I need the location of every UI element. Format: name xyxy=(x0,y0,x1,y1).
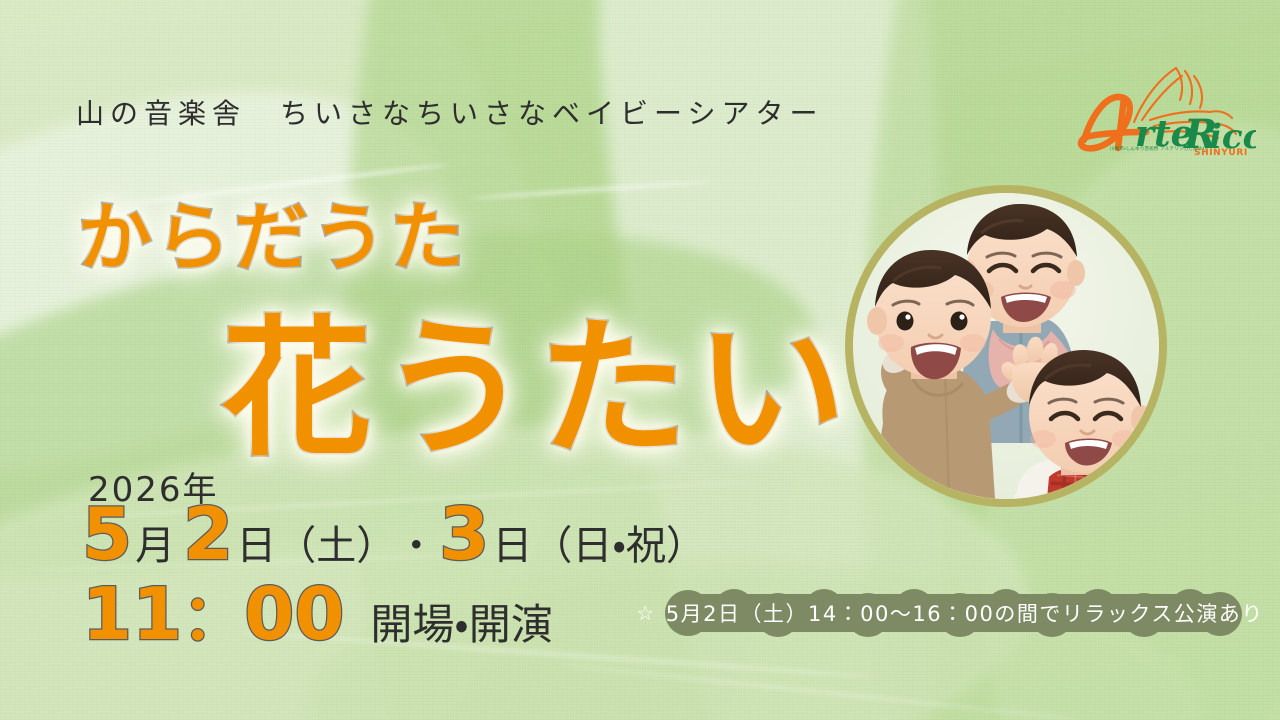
event-date-line: 5 月 2 日 （土） ・ 3 日 （日・祝） xyxy=(82,498,706,570)
date-month-number: 5 xyxy=(82,498,132,570)
relax-banner-text-wrap: ☆ 5月2日（土）14：00～16：00の間でリラックス公演あり xyxy=(648,586,1252,640)
event-time-line: 11 ： 00 開場・開演 xyxy=(82,578,553,650)
date-separator: ・ xyxy=(396,526,436,566)
relax-banner-text: 5月2日（土）14：00～16：00の間でリラックス公演あり xyxy=(666,598,1264,628)
date-day1-weekday: （土） xyxy=(276,526,396,566)
date-day1-kanji: 日 xyxy=(236,526,276,566)
artericca-logo-mark: rte R icca SHINYURI xyxy=(1072,62,1256,158)
logo-tiny-caption: 川崎市・しんゆり芸術祭 アルテリッカしんゆり xyxy=(1110,146,1207,152)
date-day1-number: 2 xyxy=(183,498,233,570)
time-label: 開場・開演 xyxy=(370,604,552,646)
time-hour: 11 xyxy=(82,578,182,650)
title-hanautai: 花うたい xyxy=(222,268,854,485)
baby-photo xyxy=(853,193,1159,499)
relax-performance-banner: ☆ 5月2日（土）14：00～16：00の間でリラックス公演あり xyxy=(648,586,1252,640)
poster-canvas: rte R icca SHINYURI 川崎市・しんゆり芸術祭 アルテリッカしん… xyxy=(0,0,1280,720)
artericca-logo[interactable]: rte R icca SHINYURI 川崎市・しんゆり芸術祭 アルテリッカしん… xyxy=(1072,62,1256,158)
date-month-kanji: 月 xyxy=(135,526,175,566)
poster-subtitle: 山の音楽舎 ちいさなちいさなベイビーシアター xyxy=(76,92,823,132)
date-day2-weekday: （日・祝） xyxy=(532,526,706,566)
time-minute: 00 xyxy=(244,578,344,650)
date-day2-kanji: 日 xyxy=(492,526,532,566)
baby-photo-frame xyxy=(845,185,1167,507)
date-day2-number: 3 xyxy=(439,498,489,570)
time-colon: ： xyxy=(182,587,244,649)
star-icon: ☆ xyxy=(636,601,655,625)
